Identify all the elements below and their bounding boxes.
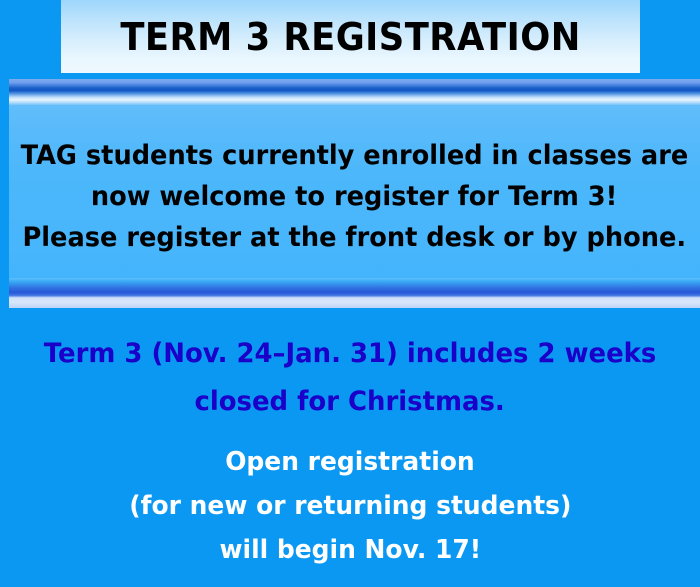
- panel-bottom-divider: [9, 278, 700, 308]
- announcement-line-1: TAG students currently enrolled in class…: [21, 135, 689, 176]
- announcement-line-2: now welcome to register for Term 3!: [91, 176, 617, 217]
- details-section: Term 3 (Nov. 24–Jan. 31) includes 2 week…: [0, 312, 700, 587]
- title-box: TERM 3 REGISTRATION: [61, 0, 640, 73]
- term-dates-line-1: Term 3 (Nov. 24–Jan. 31) includes 2 week…: [44, 330, 657, 378]
- announcement-panel: TAG students currently enrolled in class…: [9, 79, 700, 308]
- term-dates-line-2: closed for Christmas.: [195, 378, 505, 426]
- panel-top-divider: [9, 79, 700, 105]
- announcement-line-3: Please register at the front desk or by …: [23, 217, 687, 258]
- page-title: TERM 3 REGISTRATION: [120, 18, 580, 56]
- open-registration-line-1: Open registration: [225, 440, 474, 484]
- registration-poster: TERM 3 REGISTRATION TAG students current…: [0, 0, 700, 587]
- announcement-text-block: TAG students currently enrolled in class…: [9, 105, 700, 278]
- open-registration-line-3: will begin Nov. 17!: [219, 528, 481, 572]
- header-band: TERM 3 REGISTRATION: [0, 0, 700, 74]
- open-registration-line-2: (for new or returning students): [129, 484, 571, 528]
